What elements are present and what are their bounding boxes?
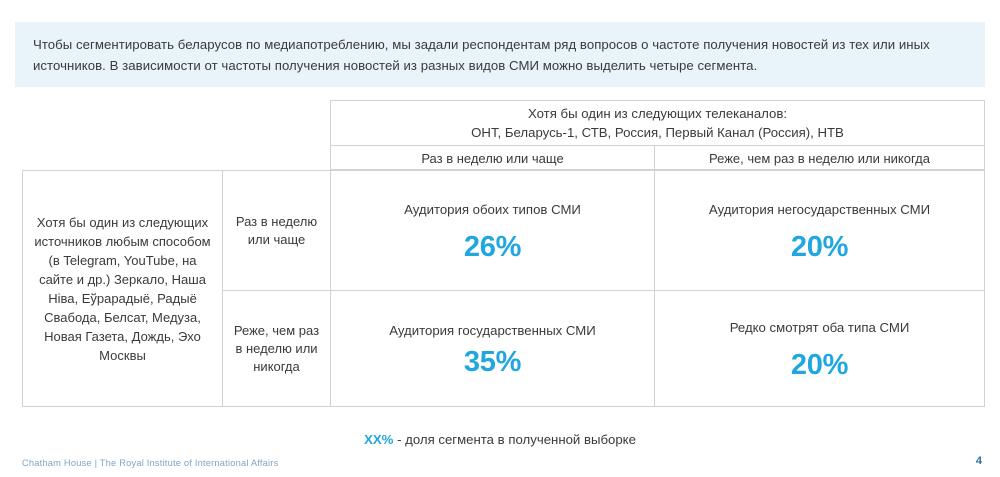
column-header-title-line1: Хотя бы один из следующих телеканалов: <box>528 104 787 123</box>
segment-cell-rarely-both: Редко смотрят оба типа СМИ 20% <box>655 291 984 406</box>
segment-label-both-media: Аудитория обоих типов СМИ <box>404 200 581 219</box>
segment-value-rarely-both: 20% <box>791 351 848 380</box>
column-header-sub-rare: Реже, чем раз в неделю или никогда <box>655 146 984 170</box>
row-header-title: Хотя бы один из следующих источников люб… <box>31 213 214 365</box>
row-header-sub-rare-cell: Реже, чем раз в неделю или никогда <box>223 291 331 406</box>
segment-value-non-state-media: 20% <box>791 233 848 262</box>
column-header-title: Хотя бы один из следующих телеканалов: О… <box>331 101 984 146</box>
legend: XX% - доля сегмента в полученной выборке <box>0 432 1000 447</box>
row-header-title-cell: Хотя бы один из следующих источников люб… <box>23 171 223 406</box>
footer-page-number: 4 <box>976 455 982 467</box>
footer-brand: Chatham House | The Royal Institute of I… <box>22 458 278 468</box>
column-header-subrow: Раз в неделю или чаще Реже, чем раз в не… <box>331 146 984 170</box>
column-header-title-line2: ОНТ, Беларусь-1, СТВ, Россия, Первый Кан… <box>471 123 844 142</box>
matrix-body: Хотя бы один из следующих источников люб… <box>22 170 985 407</box>
segment-cell-non-state-media: Аудитория негосударственных СМИ 20% <box>655 171 984 291</box>
legend-description: - доля сегмента в полученной выборке <box>397 432 636 447</box>
segment-label-rarely-both: Редко смотрят оба типа СМИ <box>730 318 910 337</box>
segment-value-state-media: 35% <box>464 348 521 377</box>
segment-cell-both-media: Аудитория обоих типов СМИ 26% <box>331 171 655 291</box>
row-header-sub-frequent: Раз в неделю или чаще <box>229 213 324 249</box>
segment-cell-state-media: Аудитория государственных СМИ 35% <box>331 291 655 406</box>
row-header-sub-frequent-cell: Раз в неделю или чаще <box>223 171 331 291</box>
intro-banner: Чтобы сегментировать беларусов по медиап… <box>15 22 985 87</box>
segment-value-both-media: 26% <box>464 233 521 262</box>
segmentation-matrix: Хотя бы один из следующих телеканалов: О… <box>22 100 985 407</box>
segment-label-state-media: Аудитория государственных СМИ <box>389 321 596 340</box>
column-header-sub-frequent: Раз в неделю или чаще <box>331 146 655 170</box>
intro-text: Чтобы сегментировать беларусов по медиап… <box>33 34 967 76</box>
segment-label-non-state-media: Аудитория негосударственных СМИ <box>709 200 930 219</box>
row-header-sub-rare: Реже, чем раз в неделю или никогда <box>229 322 324 376</box>
legend-key: XX% <box>364 432 393 447</box>
column-header-block: Хотя бы один из следующих телеканалов: О… <box>330 100 985 170</box>
